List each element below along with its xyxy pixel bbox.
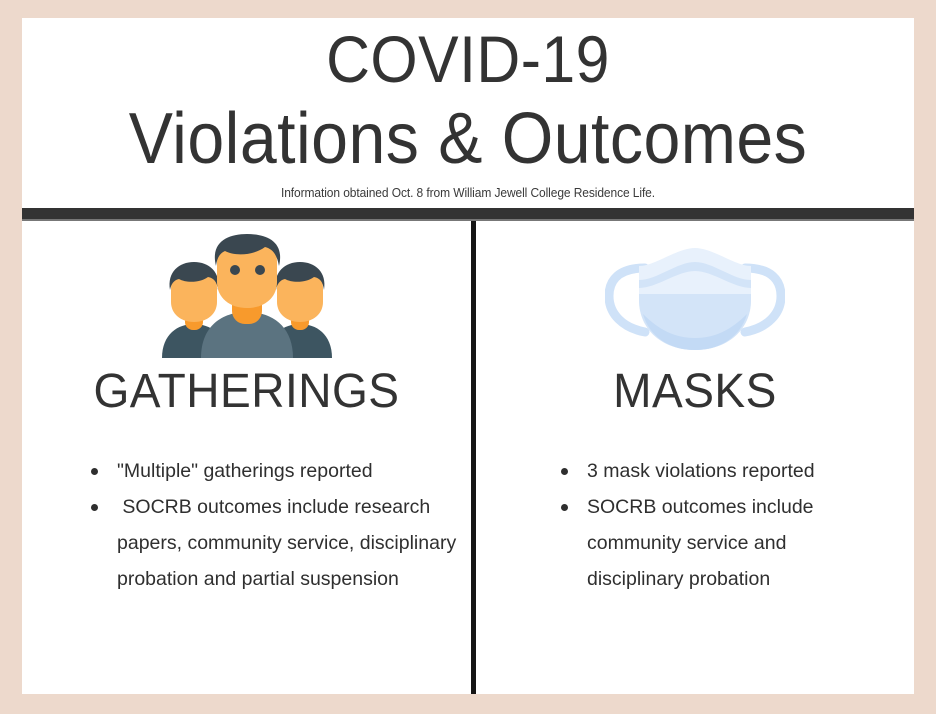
column-masks: MASKS 3 mask violations reported SOCRB o…: [476, 221, 914, 694]
title-line-1: COVID-19: [58, 20, 879, 98]
heading-gatherings: GATHERINGS: [31, 364, 462, 419]
masks-icon-wrap: [476, 235, 914, 365]
list-item: SOCRB outcomes include community service…: [554, 489, 884, 597]
poster-canvas: COVID-19 Violations & Outcomes Informati…: [22, 18, 914, 694]
gatherings-icon-wrap: [22, 231, 471, 361]
title-line-2: Violations & Outcomes: [58, 98, 879, 180]
subtitle-source-note: Information obtained Oct. 8 from William…: [40, 186, 896, 200]
horizontal-divider: [22, 208, 914, 221]
infographic-poster: COVID-19 Violations & Outcomes Informati…: [0, 0, 936, 714]
list-item: SOCRB outcomes include research papers, …: [84, 489, 464, 597]
poster-header: COVID-19 Violations & Outcomes Informati…: [22, 18, 914, 191]
column-gatherings: GATHERINGS "Multiple" gatherings reporte…: [22, 221, 471, 694]
heading-masks: MASKS: [485, 364, 905, 419]
bullet-list-gatherings: "Multiple" gatherings reported SOCRB out…: [84, 453, 464, 597]
face-mask-icon: [605, 246, 785, 354]
bullet-list-masks: 3 mask violations reported SOCRB outcome…: [554, 453, 884, 597]
people-group-icon: [154, 234, 340, 358]
list-item: "Multiple" gatherings reported: [84, 453, 464, 489]
page-title: COVID-19 Violations & Outcomes: [22, 20, 914, 180]
list-item: 3 mask violations reported: [554, 453, 884, 489]
